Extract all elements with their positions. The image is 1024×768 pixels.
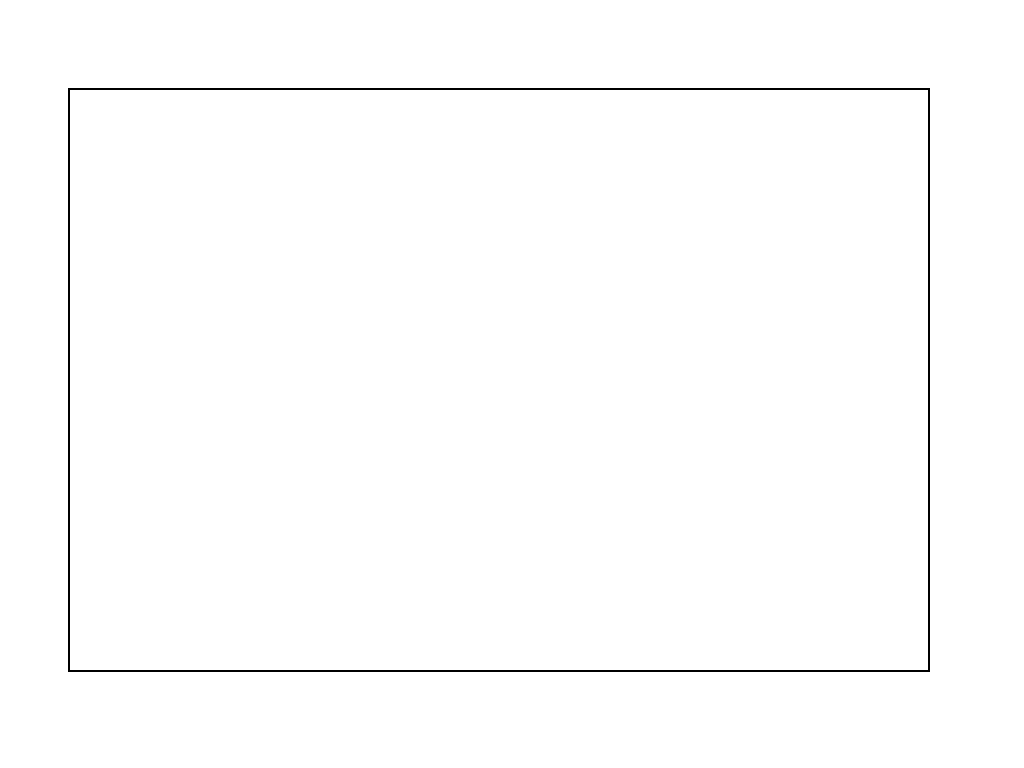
- plot-area: [68, 88, 930, 672]
- x-axis: [68, 672, 930, 762]
- colorbar: [943, 296, 967, 456]
- chart-page: [0, 0, 1024, 768]
- heatmap-cells: [70, 90, 928, 670]
- y-axis: [0, 88, 66, 672]
